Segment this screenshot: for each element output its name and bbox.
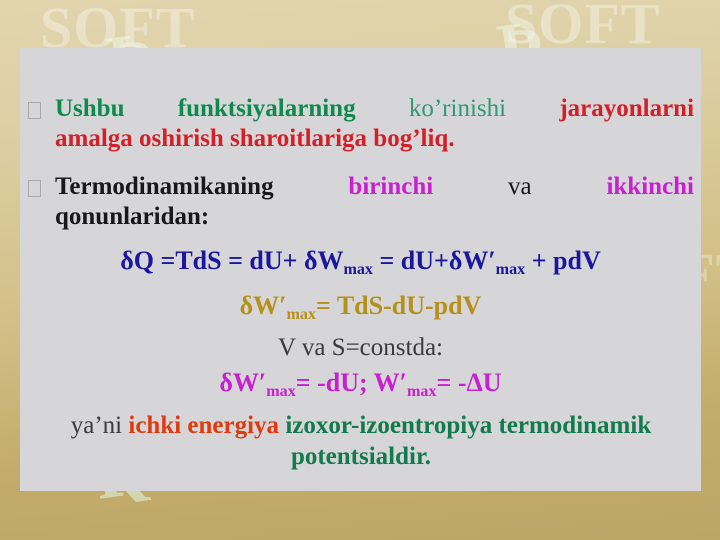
equation-2-sub-1: max — [286, 306, 316, 323]
equation-1-part-3: + pdV — [525, 246, 601, 275]
bullet-2-word-4: ikkinchi — [606, 173, 694, 200]
bullet-1-word-1: Ushbu — [55, 95, 125, 122]
equation-2-part-2: = TdS-dU-pdV — [316, 291, 481, 320]
conclusion-word-2: ichki energiya — [128, 412, 285, 439]
conclusion-word-3: izoxor-izoentropiya termodinamik — [285, 412, 651, 439]
bullet-1-word-4: jarayonlarni — [559, 95, 694, 122]
equation-3-part-2: = -dU; W′ — [296, 368, 407, 397]
equation-1-sub-2: max — [496, 261, 526, 278]
equation-1-part-1: δQ =TdS = dU+ δW — [120, 246, 343, 275]
bullet-1-word-2: funktsiyalarning — [178, 95, 356, 122]
condition-line: V va S=constda: — [20, 333, 701, 363]
equation-3-part-3: = -ΔU — [437, 368, 502, 397]
bullet-2-word-1: Termodinamikaning — [55, 173, 274, 200]
bullet-1-word-3: ko’rinishi — [409, 95, 506, 122]
conclusion-word-1: ya’ni — [71, 412, 129, 439]
conclusion-line-1: ya’ni ichki energiya izoxor-izoentropiya… — [28, 411, 694, 441]
bullet-2-line-2: qonunlaridan: — [55, 202, 694, 232]
equation-2-part-1: δW′ — [240, 291, 287, 320]
bullet-item-2: Termodinamikaning birinchi va ikkinchi q… — [28, 172, 694, 232]
bullet-marker-icon — [28, 102, 41, 119]
content-panel: Ushbu funktsiyalarning ko’rinishi jarayo… — [20, 48, 701, 491]
equation-1: δQ =TdS = dU+ δWmax = dU+δW′max + pdV — [20, 246, 701, 285]
slide-body: Ushbu funktsiyalarning ko’rinishi jarayo… — [20, 48, 701, 491]
equation-1-part-2: = dU+δW′ — [373, 246, 496, 275]
equation-3: δW′max= -dU; W′max= -ΔU — [20, 368, 701, 407]
bullet-1-line-2: amalga oshirish sharoitlariga bog’liq. — [55, 124, 694, 154]
equation-3-sub-1: max — [266, 383, 296, 400]
bullet-marker-icon — [28, 180, 41, 197]
equation-3-sub-2: max — [407, 383, 437, 400]
bullet-2-word-2: birinchi — [348, 173, 433, 200]
slide: SOFT SOFT Ʀ Ʀ Ʀ Ʀ SOFT Ushbu funktsiyala… — [0, 0, 720, 540]
conclusion-line-2: potentsialdir. — [28, 442, 694, 472]
bullet-item-1: Ushbu funktsiyalarning ko’rinishi jarayo… — [28, 94, 694, 154]
equation-3-part-1: δW′ — [219, 368, 266, 397]
equation-2: δW′max= TdS-dU-pdV — [20, 291, 701, 330]
bullet-2-word-3: va — [508, 173, 532, 200]
equation-1-sub-1: max — [343, 261, 373, 278]
